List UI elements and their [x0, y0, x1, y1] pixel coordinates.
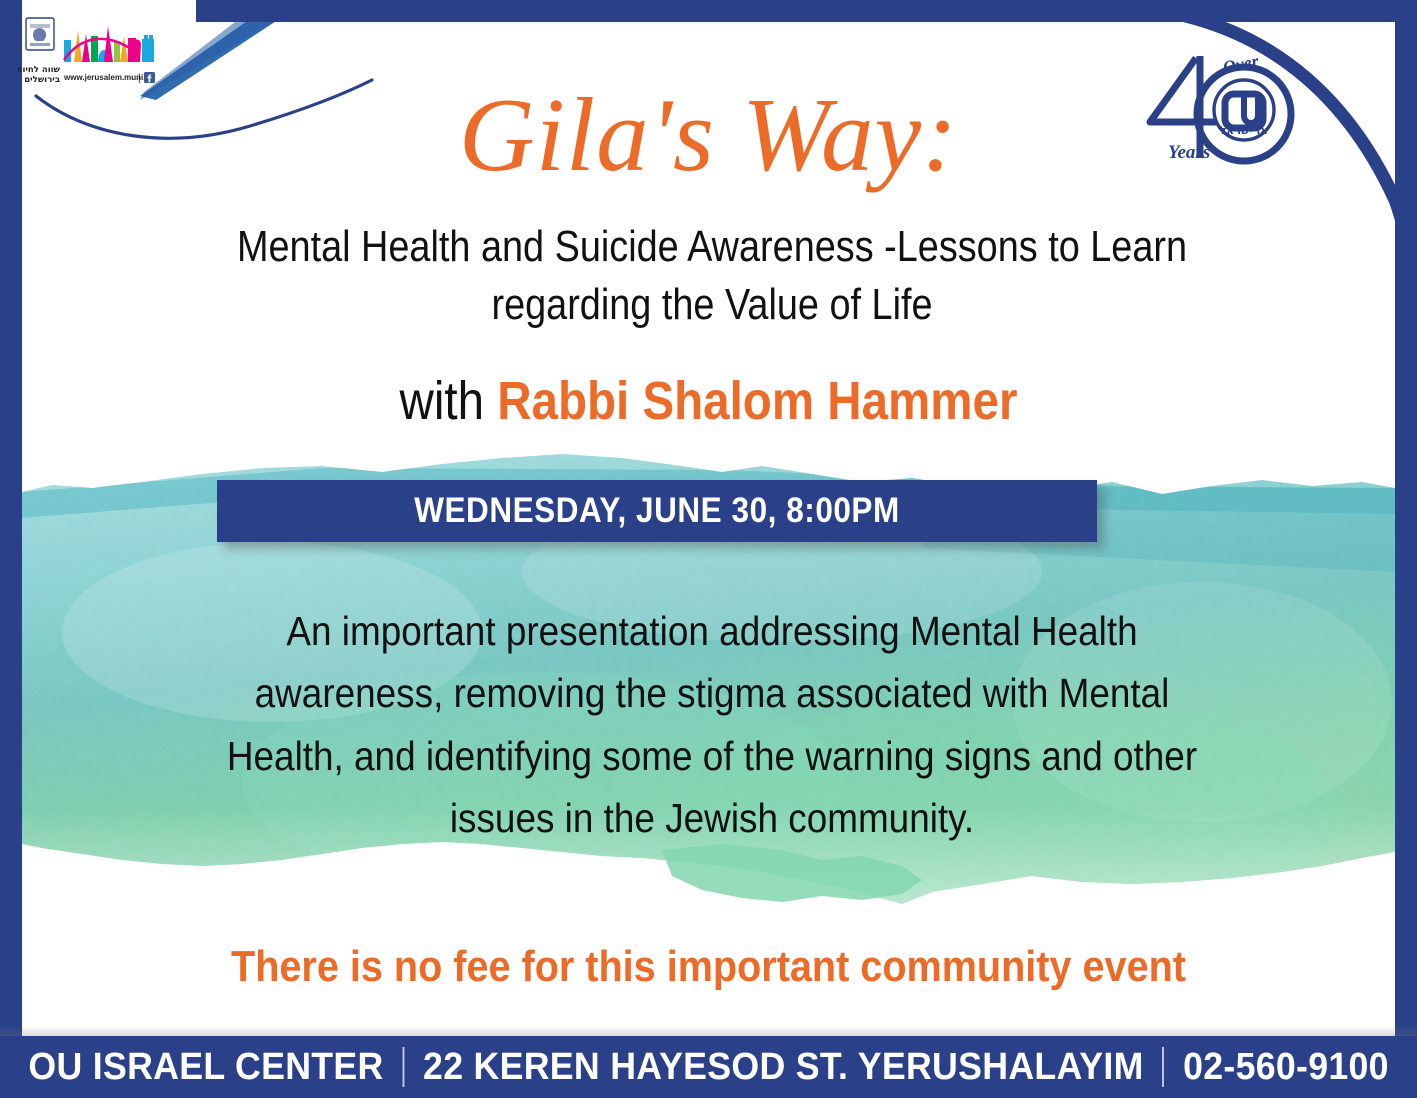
- jerusalem-crest-icon: [26, 18, 54, 50]
- date-banner: WEDNESDAY, JUNE 30, 8:00PM: [217, 480, 1097, 542]
- jerusalem-skyline-icon: [64, 26, 154, 62]
- footer-bar: OU ISRAEL CENTER 22 KEREN HAYESOD ST. YE…: [0, 1036, 1417, 1098]
- free-event-notice: There is no fee for this important commu…: [91, 942, 1327, 992]
- footer-address: 22 KEREN HAYESOD ST. YERUSHALAYIM: [404, 1046, 1162, 1089]
- date-banner-text: WEDNESDAY, JUNE 30, 8:00PM: [261, 480, 1053, 542]
- border-right: [1395, 0, 1417, 1098]
- speaker-name: Rabbi Shalom Hammer: [497, 371, 1017, 431]
- event-flyer: שווה לחיות בירושלים www.jerusalem.muni.i…: [0, 0, 1417, 1098]
- ou-logo-svg: או ישראל Over Years: [1138, 48, 1308, 180]
- description-line-1: An important presentation addressing Men…: [217, 600, 1207, 662]
- ou-israel-40-years-logo: או ישראל Over Years: [1138, 48, 1308, 178]
- description-line-3: Health, and identifying some of the warn…: [217, 725, 1207, 787]
- subtitle-line-2: regarding the Value of Life: [222, 276, 1202, 334]
- description: An important presentation addressing Men…: [217, 600, 1207, 849]
- jerusalem-municipality-logo: שווה לחיות בירושלים www.jerusalem.muni.i…: [18, 14, 168, 86]
- description-line-4: issues in the Jewish community.: [217, 787, 1207, 849]
- facebook-icon: [144, 72, 155, 83]
- muni-website: www.jerusalem.muni.il: [63, 73, 150, 82]
- muni-logo-svg: שווה לחיות בירושלים www.jerusalem.muni.i…: [18, 14, 168, 90]
- speaker-prefix: with: [400, 371, 498, 431]
- description-line-2: awareness, removing the stigma associate…: [217, 662, 1207, 724]
- ou-over-label: Over: [1221, 50, 1261, 77]
- footer-phone[interactable]: 02-560-9100: [1164, 1046, 1407, 1089]
- muni-divider: |: [138, 73, 141, 84]
- footer-separator-2: [1162, 1047, 1164, 1087]
- ou-years-label: Years: [1168, 142, 1210, 163]
- muni-hebrew-line1: שווה לחיות: [18, 65, 61, 75]
- muni-hebrew-line2: בירושלים: [24, 75, 60, 85]
- border-top: [196, 0, 1417, 22]
- footer-shadow: [0, 1026, 1417, 1036]
- ou-hebrew: או ישראל: [1220, 124, 1268, 137]
- subtitle: Mental Health and Suicide Awareness -Les…: [222, 218, 1202, 334]
- footer-separator-1: [402, 1047, 404, 1087]
- footer-venue: OU ISRAEL CENTER: [9, 1046, 402, 1089]
- border-left: [0, 0, 22, 1098]
- speaker-line: with Rabbi Shalom Hammer: [104, 372, 1312, 431]
- subtitle-line-1: Mental Health and Suicide Awareness -Les…: [222, 218, 1202, 276]
